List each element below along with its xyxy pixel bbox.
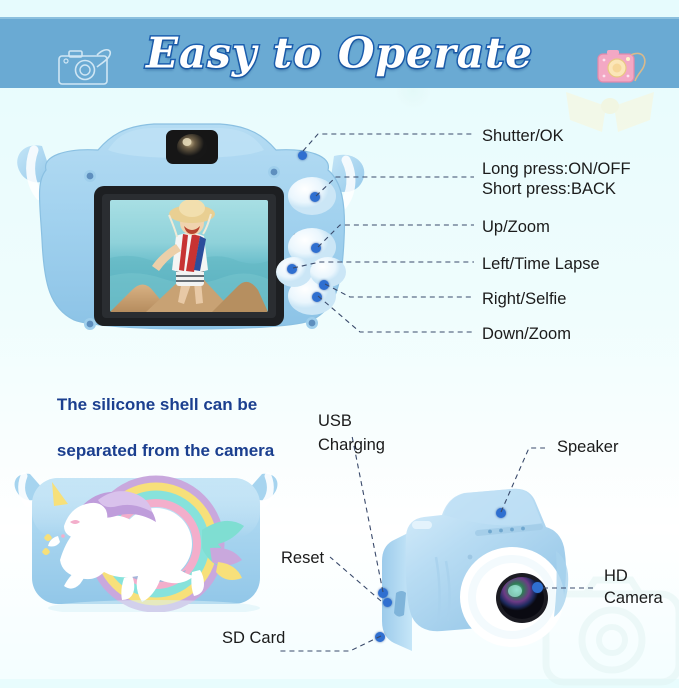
shell-note-line2: separated from the camera (57, 441, 274, 460)
bare-camera-illustration (370, 465, 590, 670)
callout-short-press: Short press:BACK (482, 179, 616, 199)
main-camera-illustration (6, 108, 386, 353)
anchor-speaker (496, 508, 506, 518)
callout-long-press: Long press:ON/OFF (482, 159, 631, 179)
page-title: Easy to Operate (0, 28, 679, 77)
anchor-usb (378, 588, 388, 598)
callout-camera: Camera (604, 588, 663, 608)
anchor-sd (375, 632, 385, 642)
callout-speaker: Speaker (557, 437, 618, 457)
bow-watermark (562, 84, 658, 136)
callout-charging: Charging (318, 435, 385, 455)
anchor-power (310, 192, 320, 202)
callout-right-selfie: Right/Selfie (482, 289, 566, 309)
shell-note: The silicone shell can be separated from… (38, 370, 274, 485)
anchor-hdcamera (532, 582, 543, 593)
anchor-up (311, 243, 321, 253)
anchor-down (312, 292, 322, 302)
callout-usb: USB (318, 411, 352, 431)
callout-up-zoom: Up/Zoom (482, 217, 550, 237)
shell-note-line1: The silicone shell can be (57, 395, 257, 414)
product-infographic: Easy to Operate (0, 0, 679, 679)
callout-hd: HD (604, 566, 628, 586)
callout-reset: Reset (281, 548, 324, 568)
pink-camera-icon (597, 45, 649, 89)
callout-shutter-ok: Shutter/OK (482, 126, 564, 146)
anchor-left (287, 264, 297, 274)
anchor-reset (383, 598, 392, 607)
header-banner: Easy to Operate (0, 17, 679, 88)
anchor-right (319, 280, 329, 290)
anchor-shutter (298, 151, 307, 160)
callout-left-timelapse: Left/Time Lapse (482, 254, 600, 274)
callout-sd-card: SD Card (222, 628, 285, 648)
callout-down-zoom: Down/Zoom (482, 324, 571, 344)
